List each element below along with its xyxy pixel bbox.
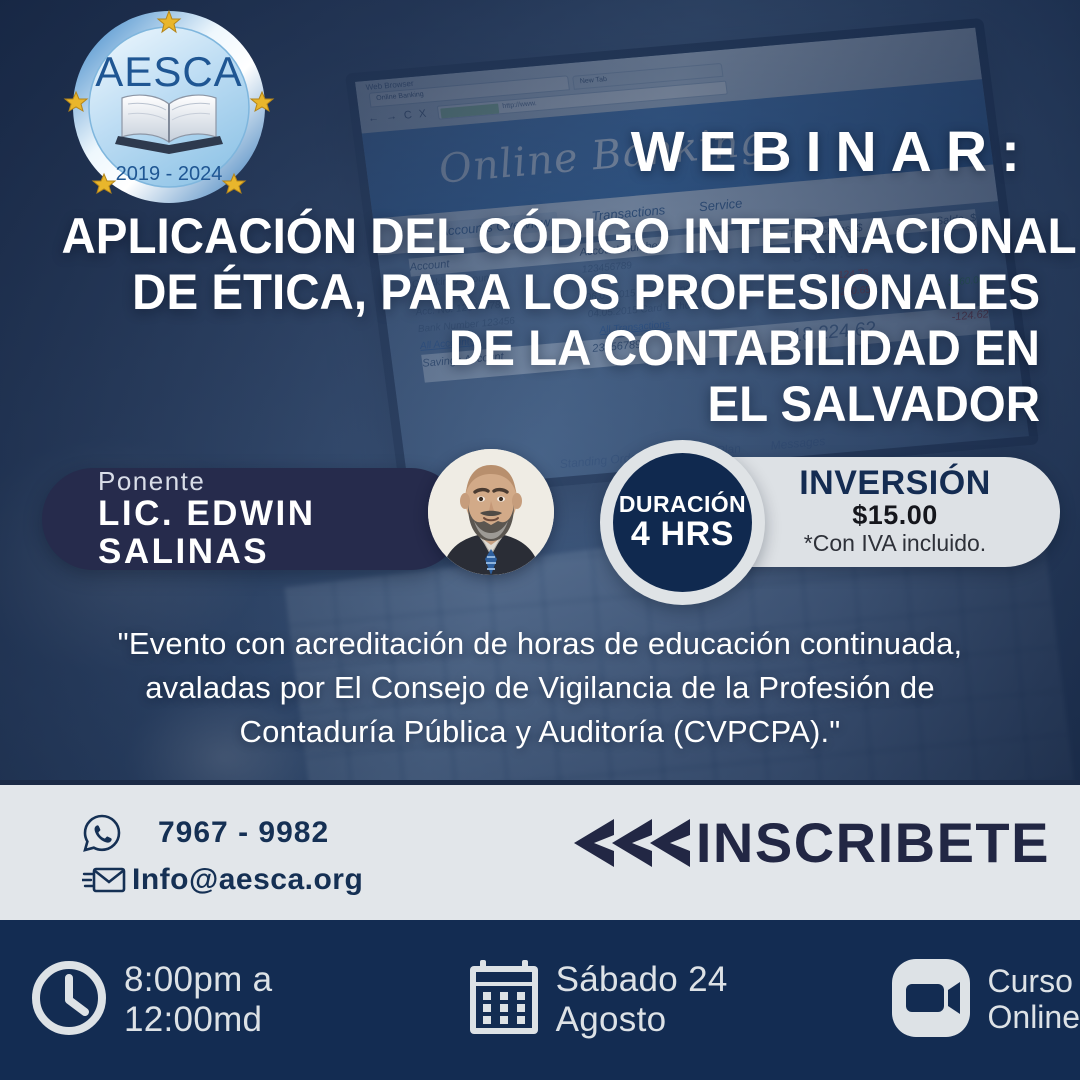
triple-chevron-left-icon [572, 815, 692, 871]
clock-icon [28, 957, 110, 1044]
speaker-role-label: Ponente [98, 468, 462, 495]
contact-info: 7967 - 9982 Info@aesca.org [82, 809, 363, 903]
title-line-1: APLICACIÓN DEL CÓDIGO INTERNACIONAL [62, 208, 1041, 264]
footer-platform-line-2: Online [988, 1000, 1080, 1036]
duration-value: 4 HRS [631, 516, 734, 553]
contact-row-whatsapp[interactable]: 7967 - 9982 [82, 809, 363, 856]
aesca-logo: AESCA 2019 - 2024 [60, 8, 278, 206]
footer-platform: Curso Online [988, 964, 1080, 1036]
speaker-pill: Ponente LIC. EDWIN SALINAS [42, 468, 462, 570]
calendar-icon [466, 958, 542, 1043]
price-label: INVERSIÓN [748, 466, 1042, 501]
aesca-logo-svg: AESCA 2019 - 2024 [60, 8, 278, 206]
page-title: APLICACIÓN DEL CÓDIGO INTERNACIONAL DE É… [62, 208, 1041, 432]
footer-platform-item: Curso Online [890, 957, 1080, 1044]
contact-band: 7967 - 9982 Info@aesca.org [0, 780, 1080, 920]
logo-years: 2019 - 2024 [116, 163, 223, 185]
speaker-name: LIC. EDWIN SALINAS [98, 495, 462, 571]
speaker-portrait-svg [428, 449, 554, 575]
footer-time: 8:00pm a 12:00md [124, 960, 418, 1040]
title-line-3: DE LA CONTABILIDAD EN [62, 320, 1041, 376]
duration-badge: DURACIÓN 4 HRS [613, 453, 752, 592]
title-line-2: DE ÉTICA, PARA LOS PROFESIONALES [62, 264, 1041, 320]
speaker-avatar [428, 449, 554, 575]
webinar-flyer: Web Browser Online Banking New Tab ← → C… [0, 0, 1080, 1080]
footer-time-item: 8:00pm a 12:00md [28, 957, 418, 1044]
eyebrow-webinar: WEBINAR: [631, 124, 1034, 181]
whatsapp-number: 7967 - 9982 [158, 816, 329, 850]
duration-label: DURACIÓN [619, 492, 746, 516]
description-line-1: "Evento con acreditación de horas de edu… [50, 622, 1030, 666]
price-note: *Con IVA incluido. [748, 531, 1042, 556]
price-amount: $15.00 [748, 501, 1042, 531]
description-line-2: avaladas por El Consejo de Vigilancia de… [50, 666, 1030, 710]
accreditation-description: "Evento con acreditación de horas de edu… [50, 622, 1030, 754]
footer-bar: 8:00pm a 12:00md Sábado 24 Agosto [0, 920, 1080, 1080]
email-address: Info@aesca.org [132, 863, 363, 897]
inscribete-cta[interactable]: INSCRIBETE [572, 815, 1050, 871]
description-line-3: Contaduría Pública y Auditoría (CVPCPA).… [50, 710, 1030, 754]
envelope-icon [82, 862, 132, 898]
logo-text: AESCA [95, 48, 242, 95]
inscribete-label: INSCRIBETE [696, 815, 1050, 871]
footer-date-item: Sábado 24 Agosto [466, 958, 844, 1043]
title-line-4: EL SALVADOR [62, 376, 1041, 432]
video-camera-icon [890, 957, 972, 1044]
open-book-icon [115, 95, 223, 154]
contact-row-email[interactable]: Info@aesca.org [82, 856, 363, 903]
footer-platform-line-1: Curso [988, 964, 1080, 1000]
footer-date: Sábado 24 Agosto [556, 960, 844, 1040]
whatsapp-icon [82, 813, 132, 853]
